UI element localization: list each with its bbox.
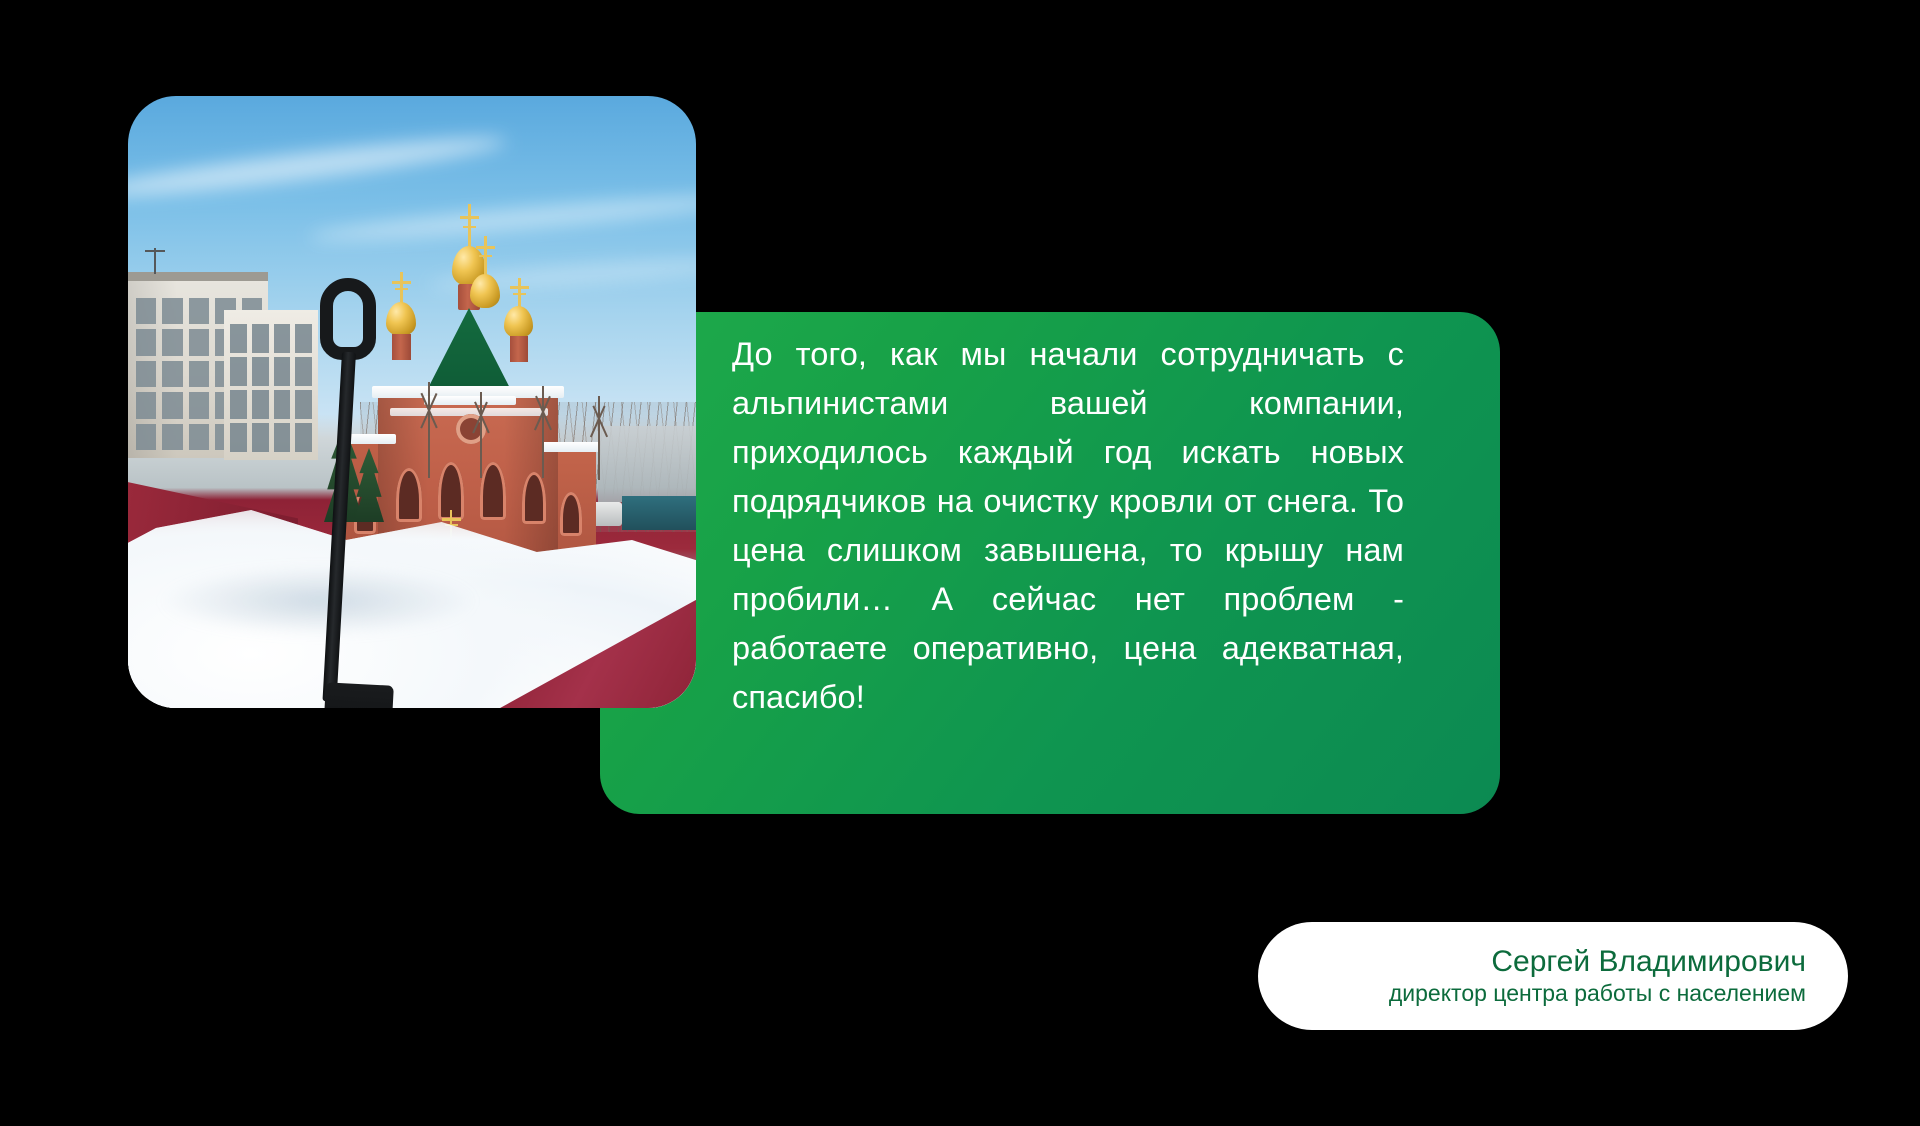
cloud-icon bbox=[128, 129, 508, 206]
testimonial-card: До того, как мы начали сотрудничать с ал… bbox=[600, 312, 1500, 814]
author-role: директор центра работы с населением bbox=[1389, 979, 1806, 1007]
distant-building bbox=[598, 426, 696, 502]
bare-tree bbox=[542, 386, 544, 478]
onion-dome-gold bbox=[504, 306, 533, 338]
testimonial-slide: До того, как мы начали сотрудничать с ал… bbox=[0, 0, 1920, 1126]
cross-icon bbox=[484, 236, 487, 276]
shovel-shaft bbox=[322, 352, 356, 702]
author-name: Сергей Владимирович bbox=[1491, 945, 1806, 979]
shovel-blade bbox=[322, 682, 394, 708]
bare-tree bbox=[428, 382, 430, 478]
cross-icon bbox=[468, 204, 471, 250]
onion-dome-gold bbox=[470, 274, 500, 308]
photo-card bbox=[128, 96, 696, 708]
testimonial-quote: До того, как мы начали сотрудничать с ал… bbox=[732, 330, 1404, 722]
arched-window bbox=[560, 492, 582, 536]
snow-shovel-icon bbox=[296, 278, 416, 708]
snow-cornice bbox=[424, 396, 516, 405]
bare-tree bbox=[598, 396, 600, 480]
author-badge: Сергей Владимирович директор центра рабо… bbox=[1258, 922, 1848, 1030]
dome-drum bbox=[510, 336, 528, 362]
winter-roof-photo bbox=[128, 96, 696, 708]
shovel-handle bbox=[320, 278, 376, 360]
snow-cornice bbox=[542, 442, 600, 452]
green-tent-roof bbox=[424, 308, 514, 396]
shed-roof bbox=[622, 496, 696, 530]
antenna-icon bbox=[154, 248, 156, 274]
bare-tree bbox=[480, 392, 482, 478]
